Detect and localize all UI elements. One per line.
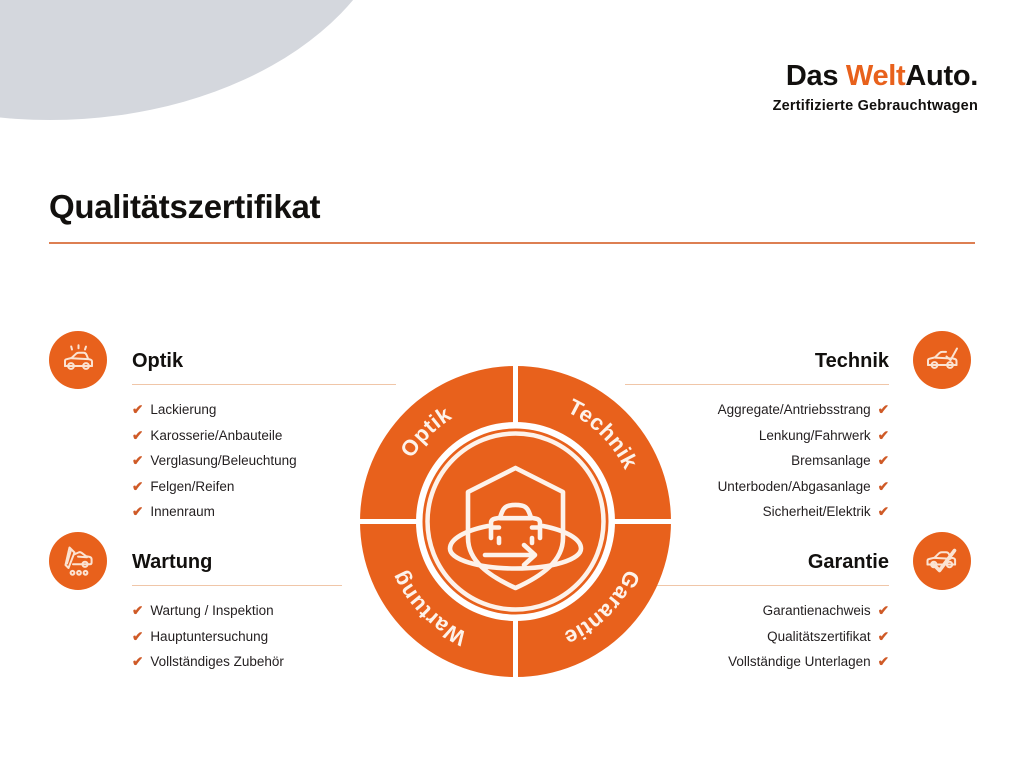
check-icon: ✔ (132, 448, 143, 474)
brand-logo-das: Das (786, 60, 846, 92)
car-checkmark-icon (922, 541, 962, 581)
block-optik-title: Optik (132, 350, 183, 373)
list-item-label: Hauptuntersuchung (150, 624, 268, 650)
check-icon: ✔ (878, 624, 889, 650)
brand-logo-welt: Welt (846, 60, 906, 92)
car-hood-check-icon (922, 340, 962, 380)
block-technik-title: Technik (815, 350, 889, 373)
check-icon: ✔ (132, 649, 143, 675)
wartung-badge (49, 532, 107, 590)
check-icon: ✔ (132, 474, 143, 500)
check-icon: ✔ (878, 474, 889, 500)
check-icon: ✔ (878, 499, 889, 525)
car-shine-icon (58, 340, 98, 380)
list-item-label: Lenkung/Fahrwerk (759, 423, 871, 449)
block-wartung-title: Wartung (132, 551, 212, 574)
decorative-gray-arc (0, 0, 400, 120)
title-divider (49, 242, 975, 244)
check-icon: ✔ (878, 423, 889, 449)
list-item-label: Garantienachweis (763, 598, 871, 624)
list-item-label: Bremsanlage (791, 448, 871, 474)
list-item-label: Felgen/Reifen (150, 474, 234, 500)
list-item-label: Vollständige Unterlagen (728, 649, 871, 675)
brand-logo-auto: Auto. (905, 60, 978, 92)
brand-logo: Das WeltAuto. Zertifizierte Gebrauchtwag… (773, 62, 978, 114)
list-item-label: Vollständiges Zubehör (150, 649, 284, 675)
brand-logo-wordmark: Das WeltAuto. (773, 62, 978, 91)
list-item-label: Unterboden/Abgasanlage (718, 474, 871, 500)
block-wartung-list: ✔Wartung / Inspektion ✔Hauptuntersuchung… (132, 598, 342, 675)
check-icon: ✔ (878, 448, 889, 474)
optik-badge (49, 331, 107, 389)
brand-tagline: Zertifizierte Gebrauchtwagen (773, 99, 978, 114)
block-wartung-header: Wartung (132, 540, 342, 586)
list-item: ✔Wartung / Inspektion (132, 598, 342, 624)
check-icon: ✔ (132, 624, 143, 650)
check-icon: ✔ (878, 397, 889, 423)
block-garantie-title: Garantie (808, 551, 889, 574)
list-item-label: Lackierung (150, 397, 216, 423)
garantie-badge (913, 532, 971, 590)
technik-badge (913, 331, 971, 389)
pen-car-checklist-icon (58, 541, 98, 581)
check-icon: ✔ (132, 499, 143, 525)
list-item-label: Verglasung/Beleuchtung (150, 448, 296, 474)
block-wartung: Wartung ✔Wartung / Inspektion ✔Hauptunte… (132, 540, 342, 675)
check-icon: ✔ (878, 598, 889, 624)
certificate-page: Das WeltAuto. Zertifizierte Gebrauchtwag… (0, 0, 1024, 768)
list-item: ✔Vollständiges Zubehör (132, 649, 342, 675)
list-item-label: Wartung / Inspektion (150, 598, 273, 624)
check-icon: ✔ (132, 423, 143, 449)
quality-donut-diagram: Optik Technik Wartung Garantie (354, 360, 677, 683)
list-item-label: Qualitätszertifikat (767, 624, 871, 650)
check-icon: ✔ (132, 598, 143, 624)
list-item-label: Innenraum (150, 499, 215, 525)
check-icon: ✔ (878, 649, 889, 675)
list-item-label: Karosserie/Anbauteile (150, 423, 282, 449)
list-item-label: Sicherheit/Elektrik (763, 499, 871, 525)
page-title: Qualitätszertifikat (49, 188, 320, 226)
list-item: ✔Hauptuntersuchung (132, 624, 342, 650)
check-icon: ✔ (132, 397, 143, 423)
list-item-label: Aggregate/Antriebsstrang (718, 397, 871, 423)
block-wartung-divider (132, 585, 342, 587)
